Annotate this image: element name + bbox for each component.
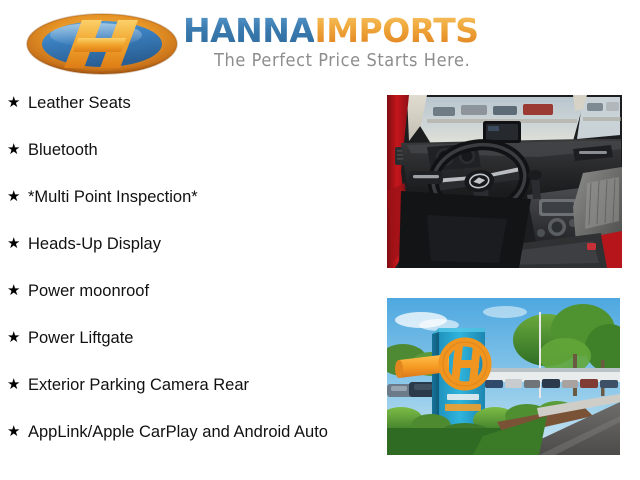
- star-icon: ★: [7, 139, 20, 161]
- star-icon: ★: [7, 374, 20, 396]
- list-item: ★ Bluetooth: [0, 139, 370, 186]
- star-icon: ★: [7, 327, 20, 349]
- feature-label: Leather Seats: [28, 92, 338, 114]
- feature-label: *Multi Point Inspection*: [28, 186, 338, 208]
- vehicle-interior-photo[interactable]: [387, 95, 622, 268]
- feature-label: Power moonroof: [28, 280, 338, 302]
- star-icon: ★: [7, 92, 20, 114]
- vehicle-features-list: ★ Leather Seats ★ Bluetooth ★ *Multi Poi…: [0, 92, 370, 468]
- hanna-oval-h-logo-icon: [26, 12, 178, 76]
- list-item: ★ *Multi Point Inspection*: [0, 186, 370, 233]
- feature-label: Exterior Parking Camera Rear: [28, 374, 338, 396]
- wordmark-hanna: HANNA: [183, 11, 314, 50]
- dealer-tagline: The Perfect Price Starts Here.: [214, 50, 470, 71]
- feature-label: Heads-Up Display: [28, 233, 338, 255]
- dealership-photo[interactable]: [387, 298, 620, 455]
- star-icon: ★: [7, 421, 20, 443]
- star-icon: ★: [7, 280, 20, 302]
- dealer-header: HANNAIMPORTS The Perfect Price Starts He…: [0, 0, 640, 88]
- list-item: ★ AppLink/Apple CarPlay and Android Auto: [0, 421, 370, 468]
- list-item: ★ Leather Seats: [0, 92, 370, 139]
- list-item: ★ Heads-Up Display: [0, 233, 370, 280]
- dealer-wordmark: HANNAIMPORTS: [183, 14, 479, 48]
- feature-label: AppLink/Apple CarPlay and Android Auto: [28, 421, 338, 443]
- star-icon: ★: [7, 233, 20, 255]
- feature-label: Bluetooth: [28, 139, 338, 161]
- list-item: ★ Exterior Parking Camera Rear: [0, 374, 370, 421]
- star-icon: ★: [7, 186, 20, 208]
- feature-label: Power Liftgate: [28, 327, 338, 349]
- list-item: ★ Power moonroof: [0, 280, 370, 327]
- list-item: ★ Power Liftgate: [0, 327, 370, 374]
- wordmark-imports: IMPORTS: [314, 11, 478, 50]
